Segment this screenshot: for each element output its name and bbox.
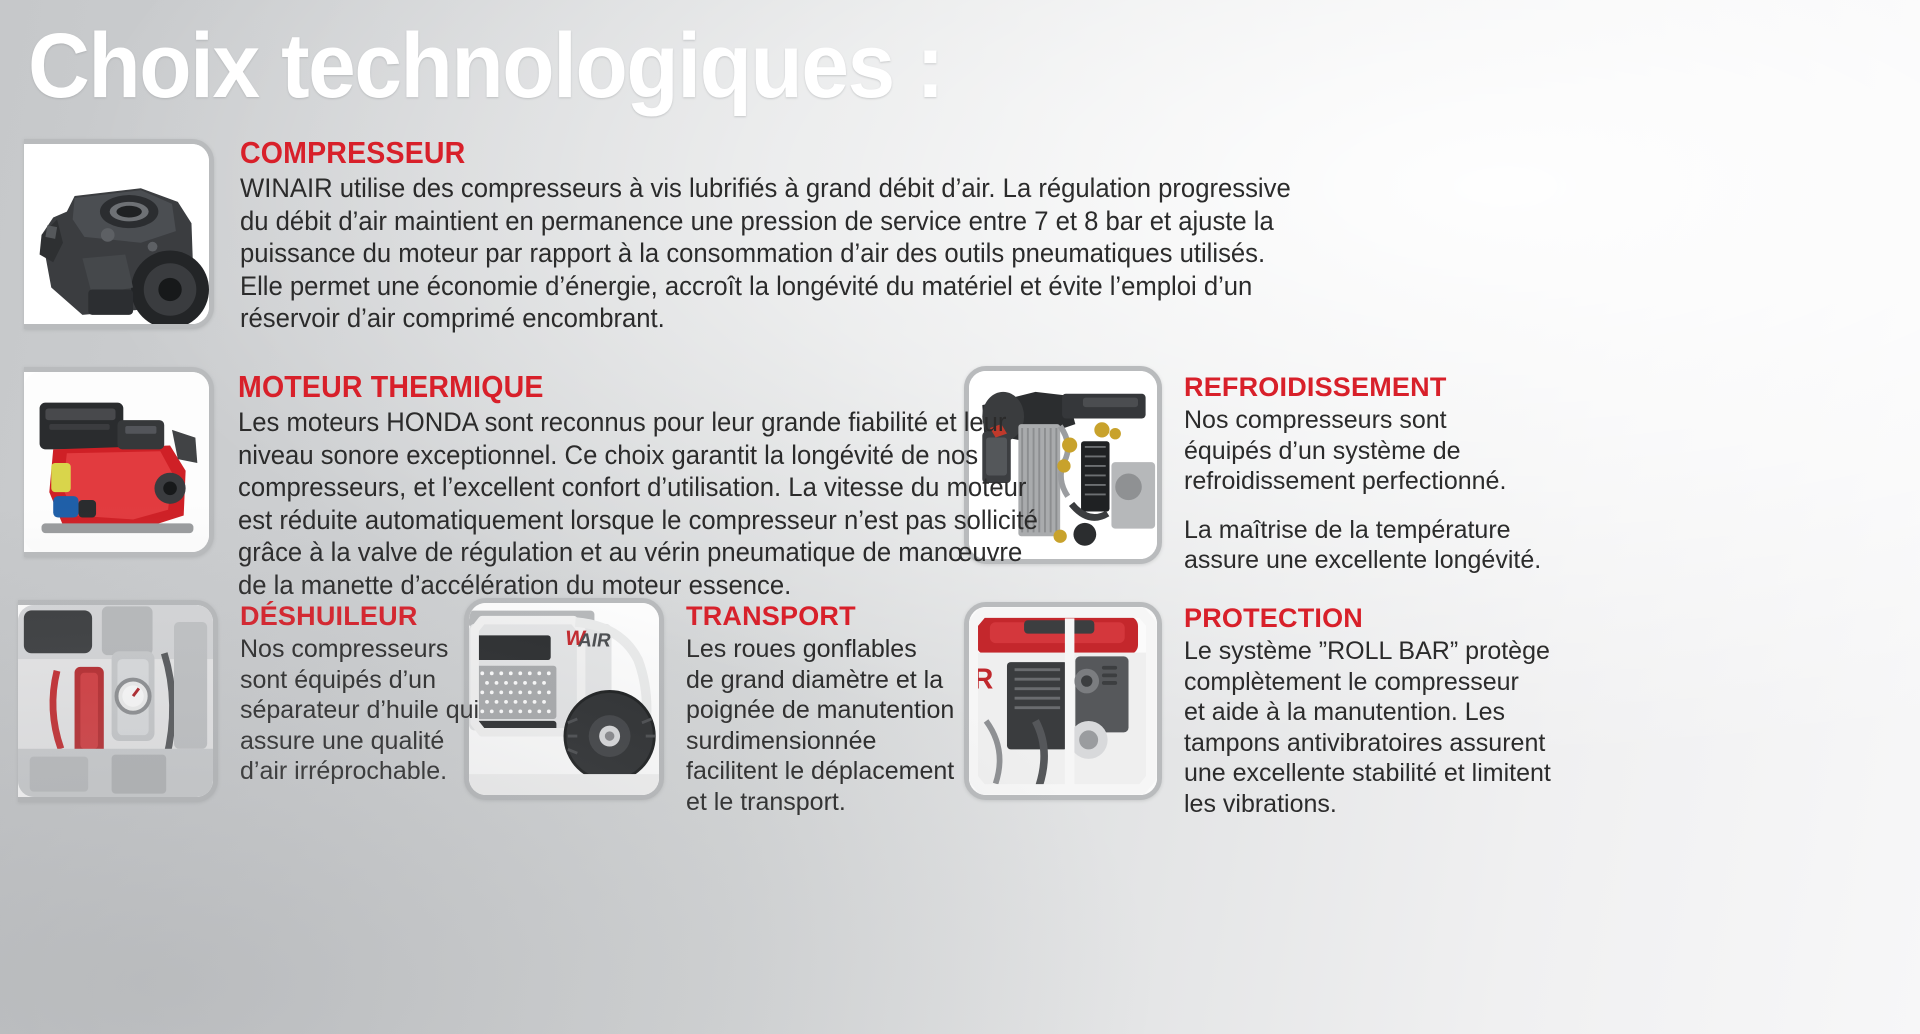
feature-protection-body: Le système ”ROLL BAR” protège complèteme… (1184, 636, 1551, 819)
deoiler-photo-card (18, 600, 218, 802)
feature-engine-body: Les moteurs HONDA sont reconnus pour leu… (238, 406, 1038, 601)
feature-cooling-body-2: La maîtrise de la température assure une… (1184, 515, 1541, 576)
transport-photo-card: W AIR (464, 598, 664, 800)
feature-compressor-body: WINAIR utilise des compresseurs à vis lu… (240, 172, 1291, 335)
feature-transport-heading: TRANSPORT (686, 601, 954, 632)
feature-engine-heading: MOTEUR THERMIQUE (238, 370, 1013, 404)
feature-cooling: REFROIDISSEMENT Nos compresseurs sont éq… (1184, 372, 1604, 576)
feature-protection-heading: PROTECTION (1184, 603, 1551, 634)
svg-text:AIR: AIR (576, 631, 613, 652)
winair-wheels-photo: W AIR (469, 603, 659, 795)
feature-compressor: COMPRESSEUR WINAIR utilise des compresse… (240, 136, 1140, 335)
page-title: Choix technologiques : (28, 14, 943, 118)
feature-deoiler-heading: DÉSHUILEUR (240, 601, 479, 632)
brochure-page: Choix technologiques : (0, 0, 1920, 1034)
protection-photo-card: R (964, 602, 1162, 800)
oil-separator-photo (18, 605, 213, 797)
feature-transport-body: Les roues gonflables de grand diamètre e… (686, 634, 954, 817)
roll-bar-frame-photo: R (969, 607, 1157, 795)
feature-deoiler: DÉSHUILEUR Nos compresseurs sont équipés… (240, 601, 470, 787)
feature-cooling-heading: REFROIDISSEMENT (1184, 372, 1541, 403)
feature-deoiler-body: Nos compresseurs sont équipés d’un sépar… (240, 634, 479, 787)
feature-engine: MOTEUR THERMIQUE Les moteurs HONDA sont … (238, 370, 958, 601)
honda-engine-photo (24, 372, 209, 552)
engine-photo-card (24, 367, 214, 557)
feature-protection: PROTECTION Le système ”ROLL BAR” protège… (1184, 603, 1544, 819)
feature-transport: TRANSPORT Les roues gonflables de grand … (686, 601, 946, 817)
feature-cooling-body-1: Nos compresseurs sont équipés d’un systè… (1184, 405, 1541, 497)
screw-compressor-photo (24, 144, 209, 324)
compressor-photo-card (24, 139, 214, 329)
feature-compressor-heading: COMPRESSEUR (240, 136, 1258, 170)
